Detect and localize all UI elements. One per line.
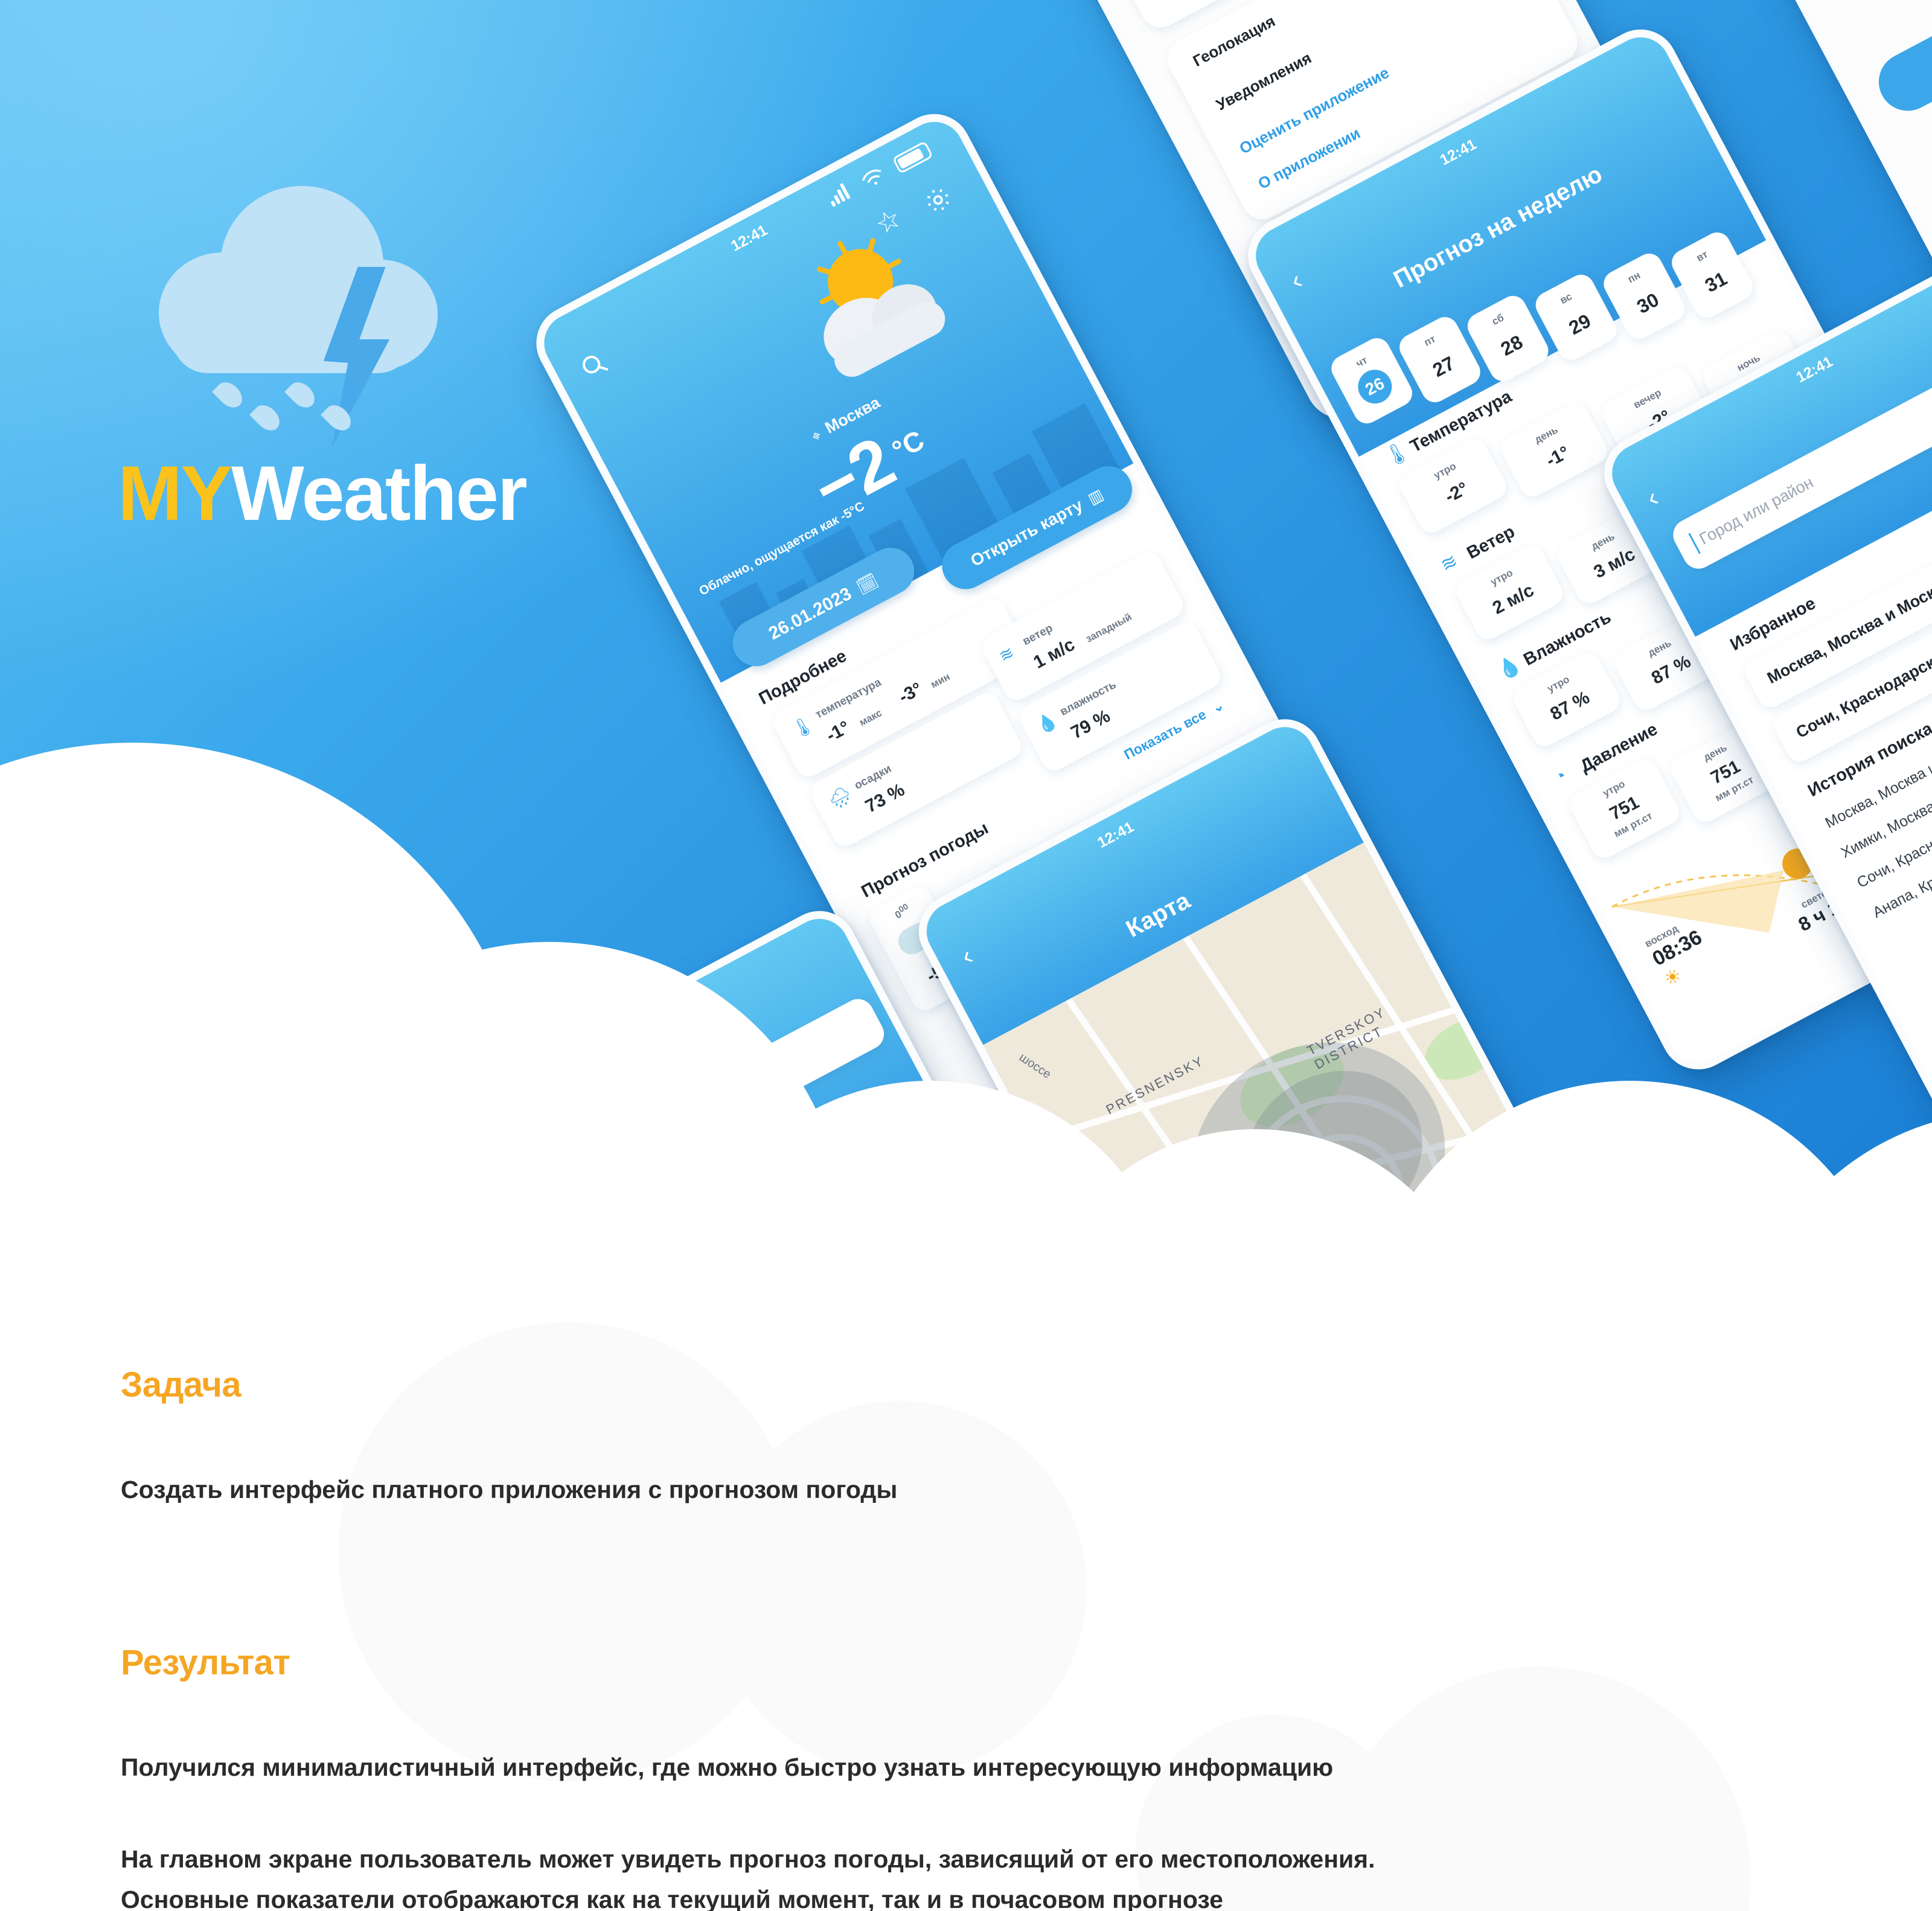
calendar-icon: 🗓 — [853, 570, 881, 598]
settings-item-label-notifications[interactable]: Уведомления — [1213, 48, 1314, 114]
detail-sub: западный — [1084, 611, 1134, 645]
detail-sub-max: макс — [857, 707, 884, 729]
detail-value-min: -3° — [895, 679, 926, 708]
onboarding-continue-button[interactable]: Продолжить — [1869, 0, 1932, 121]
gauge-icon: ◔ — [1550, 764, 1570, 790]
section-heading: Задача — [121, 1365, 897, 1405]
chevron-down-icon: ⌄ — [1209, 697, 1226, 716]
settings-item-label-geolocation[interactable]: Геолокация — [1190, 11, 1279, 71]
wind-icon: ≋ — [996, 642, 1017, 667]
section-heading: Результат — [121, 1642, 1375, 1683]
wind-icon: ≋ — [1436, 549, 1462, 577]
section-paragraph: На главном экране пользователь может уви… — [121, 1841, 1375, 1878]
logo-weather: Weather — [231, 450, 526, 537]
section-paragraph: Создать интерфейс платного приложения с … — [121, 1471, 897, 1509]
section-task: Задача Создать интерфейс платного прилож… — [121, 1365, 897, 1509]
humidity-icon: 💧 — [1493, 651, 1525, 683]
detail-label: влажность — [1058, 678, 1118, 719]
map-icon: ▥ — [1084, 485, 1106, 508]
location-pin-icon: ⌖ — [808, 426, 825, 447]
section-paragraph: Основные показатели отображаются как на … — [121, 1881, 1375, 1911]
section-result: Результат Получился минималистичный инте… — [121, 1642, 1375, 1911]
section-paragraph: Получился минималистичный интерфейс, где… — [121, 1749, 1375, 1787]
thermometer-icon: 🌡 — [788, 713, 818, 743]
logo-my: MY — [118, 450, 231, 537]
hero-banner: MYWeather Геолокация Уведомления Оценить… — [0, 0, 1932, 1244]
rain-cloud-icon: 🌧 — [825, 783, 856, 813]
detail-value-max: -1° — [823, 717, 853, 746]
temperature-unit: °C — [887, 424, 929, 466]
detail-sub-min: мин — [929, 671, 952, 691]
storm-cloud-rain-lightning-icon — [148, 181, 462, 441]
day-number-selected: 26 — [1352, 364, 1398, 410]
cloud-decoration — [0, 1214, 1932, 1244]
humidity-icon: 💧 — [1033, 709, 1061, 737]
